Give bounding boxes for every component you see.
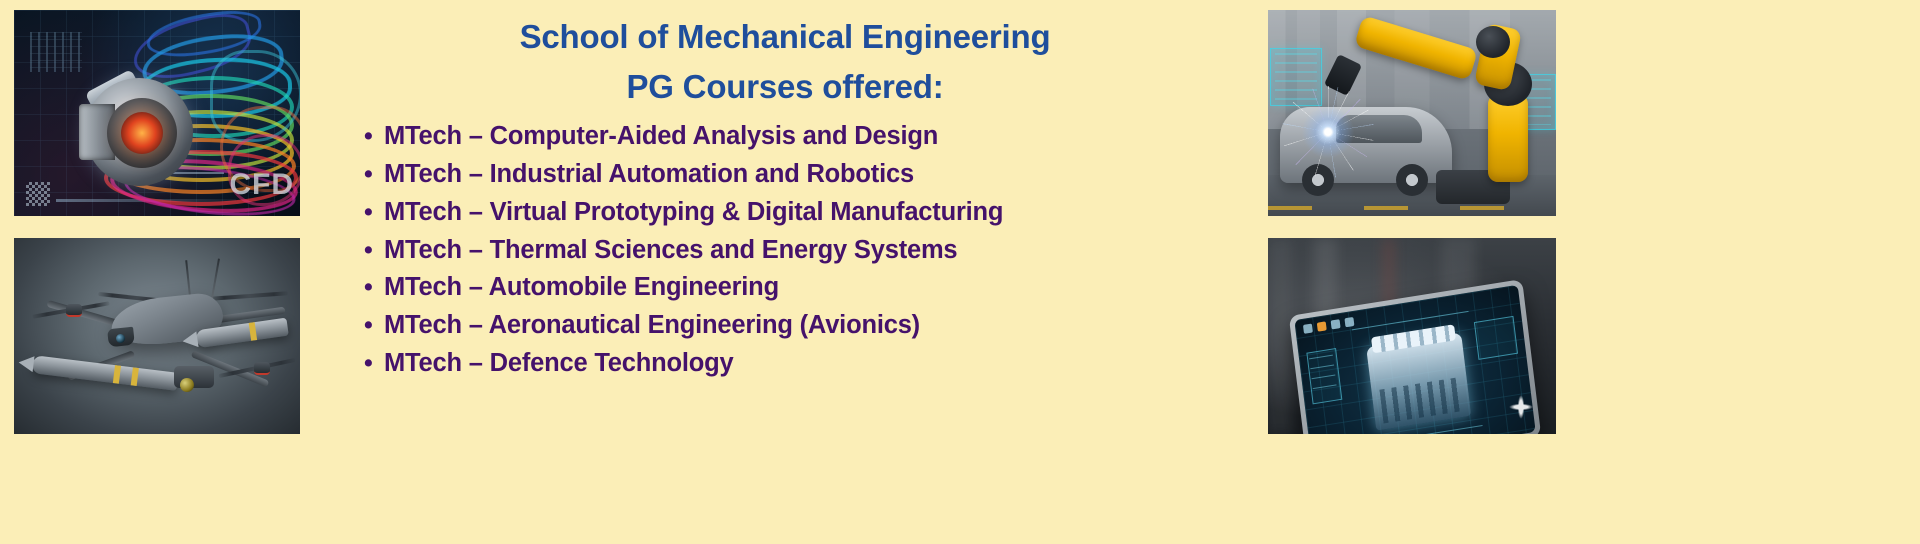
bullet-icon: • [364,194,384,231]
course-label: MTech – Defence Technology [384,345,734,383]
drone-camera-lens-icon [116,334,125,343]
course-label: MTech – Automobile Engineering [384,269,779,307]
drone-pod-lens-icon [180,378,194,392]
bullet-icon: • [364,156,384,193]
cad-engine-model [1366,333,1471,431]
bullet-icon: • [364,118,384,155]
robot-shoulder-joint [1476,26,1510,58]
cfd-watermark-label: CFD [229,168,294,202]
image-cfd-jet-engine-simulation: CFD [14,10,300,216]
course-label: MTech – Aeronautical Engineering (Avioni… [384,307,920,345]
car-wheel-rear [1396,164,1428,196]
cad-tool-icon-1[interactable] [1303,323,1313,333]
welding-spark-core [1298,102,1358,162]
drone-rotor-hub-left [66,304,82,317]
cad-tool-icon-2[interactable] [1317,321,1327,331]
course-label: MTech – Industrial Automation and Roboti… [384,156,914,194]
bullet-icon: • [364,345,384,382]
list-item: • MTech – Computer-Aided Analysis and De… [364,118,1250,156]
drone-rotor-hub-right [254,362,270,375]
list-item: • MTech – Aeronautical Engineering (Avio… [364,307,1250,345]
factory-floor-marking [1268,206,1556,210]
bullet-icon: • [364,307,384,344]
robot-lower-arm [1488,94,1528,182]
list-item: • MTech – Virtual Prototyping & Digital … [364,194,1250,232]
cad-tool-icon-4[interactable] [1344,317,1354,327]
slide-canvas: CFD [0,0,1920,544]
course-label: MTech – Virtual Prototyping & Digital Ma… [384,194,1003,232]
list-item: • MTech – Industrial Automation and Robo… [364,156,1250,194]
list-item: • MTech – Defence Technology [364,345,1250,383]
image-military-uav-drone [14,238,300,434]
course-list: • MTech – Computer-Aided Analysis and De… [364,118,1250,382]
list-item: • MTech – Thermal Sciences and Energy Sy… [364,232,1250,270]
cad-tool-icon-3[interactable] [1330,319,1340,329]
jet-engine-model [77,74,201,192]
page-title-line-1: School of Mechanical Engineering [320,12,1250,62]
sparkle-icon [1504,390,1538,424]
bullet-icon: • [364,269,384,306]
bullet-icon: • [364,232,384,269]
list-item: • MTech – Automobile Engineering [364,269,1250,307]
image-tablet-cad-engine [1268,238,1556,434]
page-title-line-2: PG Courses offered: [320,62,1250,112]
course-label: MTech – Computer-Aided Analysis and Desi… [384,118,938,156]
image-industrial-robot-welding [1268,10,1556,216]
page-title: School of Mechanical Engineering PG Cour… [320,12,1250,112]
course-label: MTech – Thermal Sciences and Energy Syst… [384,232,957,270]
text-content: School of Mechanical Engineering PG Cour… [320,12,1250,382]
cad-right-panel [1474,316,1518,360]
